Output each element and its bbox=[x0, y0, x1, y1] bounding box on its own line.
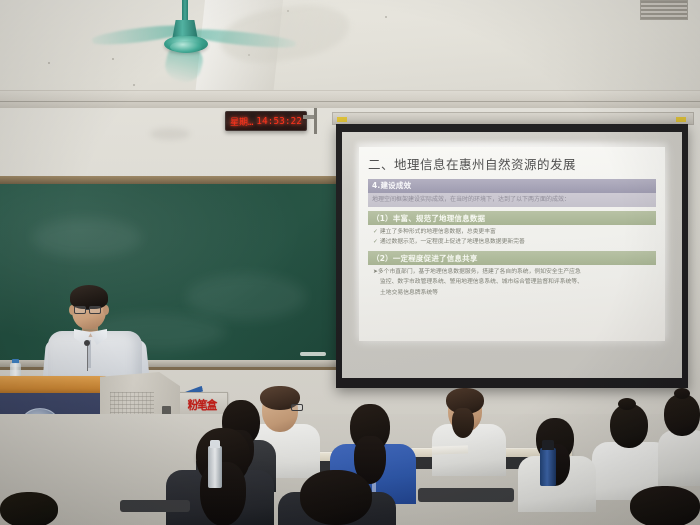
bullet-text: 多个市直部门，基于地理信息数据服务，搭建了各自的系统，例如安全生产应急 bbox=[378, 269, 581, 275]
glasses-icon bbox=[89, 306, 101, 314]
presentation-slide: 二、地理信息在惠州自然资源的发展 4.建设成效 地理空间框架建设实际成效，在当时… bbox=[359, 147, 665, 341]
bullet-text-continued: 土地交易信息牌系统等 bbox=[373, 288, 654, 298]
bullet-text: 通过数据示范，一定程度上促进了地理信息数据更新完善 bbox=[380, 239, 525, 245]
slide-bullet-list-1: ✓建立了多种形式的地理信息数据，总类更丰富 ✓通过数据示范，一定程度上促进了地理… bbox=[368, 225, 656, 247]
hair-bun bbox=[618, 398, 636, 410]
desk-papers bbox=[432, 445, 468, 454]
ceiling bbox=[0, 0, 700, 96]
ceiling-speck bbox=[385, 16, 387, 18]
wall-stain bbox=[150, 128, 190, 140]
bullet-text-continued: 监控、数字市政管理系统、警用地理信息系统、城市综合管理监督和评系统等、 bbox=[373, 277, 654, 287]
bullet-text: 建立了多种形式的地理信息数据，总类更丰富 bbox=[380, 229, 496, 235]
check-icon: ✓ bbox=[373, 239, 378, 245]
chalk-stick bbox=[300, 352, 326, 356]
led-clock-time: 14:53:22 bbox=[256, 116, 302, 127]
led-clock-bracket bbox=[314, 108, 317, 134]
check-icon: ✓ bbox=[373, 229, 378, 235]
slide-title: 二、地理信息在惠州自然资源的发展 bbox=[368, 154, 656, 175]
ceiling-speck bbox=[112, 58, 114, 60]
chair-back bbox=[418, 488, 514, 502]
classroom-photo: 星期… 14:53:22 二、地理信息在惠州自然资源的发展 4.建设成效 地理空… bbox=[0, 0, 700, 525]
air-vent-icon bbox=[640, 0, 688, 20]
projector-screen: 二、地理信息在惠州自然资源的发展 4.建设成效 地理空间框架建设实际成效，在当时… bbox=[336, 124, 688, 388]
lectern-worktop bbox=[0, 376, 106, 394]
hood-tab bbox=[676, 117, 686, 122]
glasses-bridge bbox=[86, 309, 89, 310]
ceiling-speck bbox=[133, 84, 135, 86]
list-item: ✓通过数据示范，一定程度上促进了地理信息数据更新完善 bbox=[373, 237, 654, 247]
chair-back bbox=[120, 500, 190, 512]
ceiling-speck bbox=[48, 62, 50, 64]
slide-section-body: 地理空间框架建设实际成效，在当时的环境下，达到了以下两方面的成效： bbox=[368, 193, 656, 207]
beam-seam bbox=[0, 101, 700, 102]
slide-bullet-list-2: ➤多个市直部门，基于地理信息数据服务，搭建了各自的系统，例如安全生产应急 监控、… bbox=[368, 265, 656, 297]
hood-tab bbox=[337, 117, 347, 122]
led-marquee-clock: 星期… 14:53:22 bbox=[225, 111, 307, 131]
slide-subsection-heading-1: （1）丰富、规范了地理信息数据 bbox=[368, 211, 656, 225]
blackboard-top-rail bbox=[0, 176, 348, 184]
glasses-icon bbox=[291, 404, 303, 411]
fan-hub-inner bbox=[170, 41, 202, 53]
list-item: ➤多个市直部门，基于地理信息数据服务，搭建了各自的系统，例如安全生产应急 bbox=[373, 267, 654, 277]
projection-surface: 二、地理信息在惠州自然资源的发展 4.建设成效 地理空间框架建设实际成效，在当时… bbox=[342, 132, 682, 378]
led-clock-left-text: 星期… bbox=[230, 115, 253, 128]
list-item: ✓建立了多种形式的地理信息数据，总类更丰富 bbox=[373, 227, 654, 237]
ceiling-fan bbox=[120, 0, 320, 70]
hair-bun bbox=[674, 388, 690, 399]
microphone-cord bbox=[87, 345, 88, 371]
slide-section-band: 4.建设成效 bbox=[368, 179, 656, 193]
glasses-icon bbox=[74, 306, 86, 314]
chalk-box-label: 粉笔盒 bbox=[188, 397, 217, 414]
slide-subsection-heading-2: （2）一定程度促进了信息共享 bbox=[368, 251, 656, 265]
